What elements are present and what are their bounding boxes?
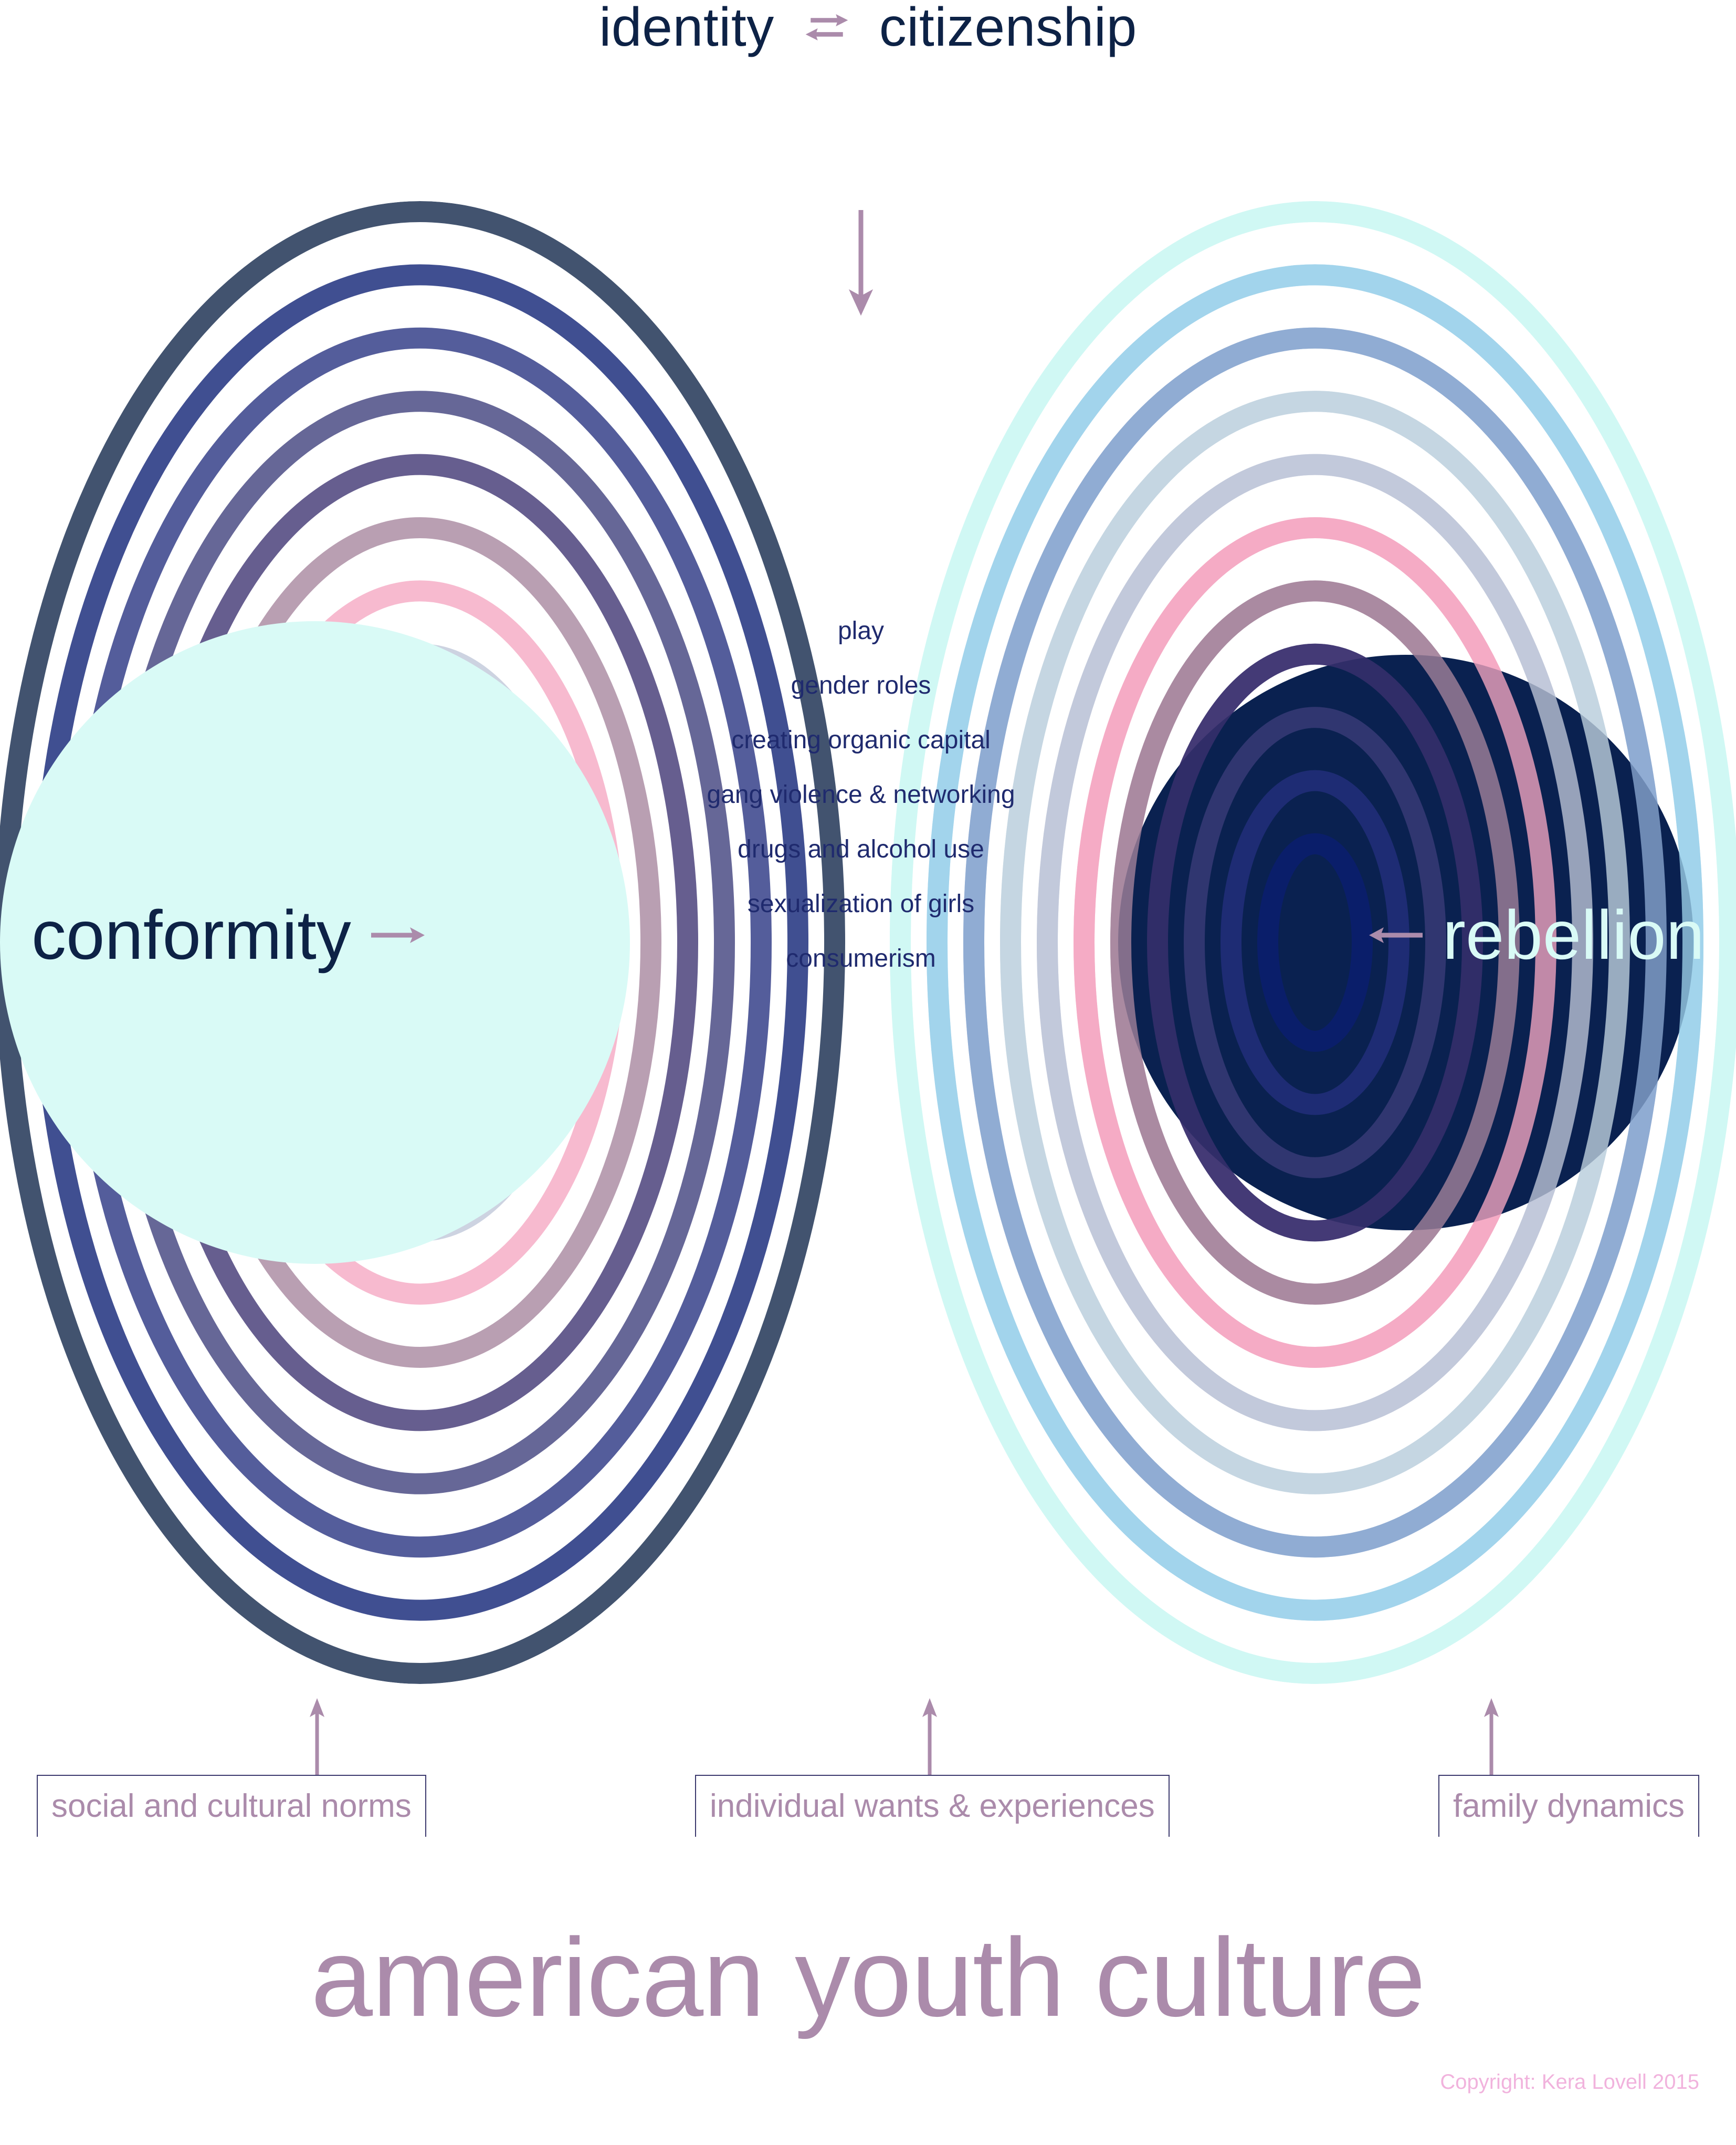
rebellion-pole: rebellion [1232, 901, 1705, 970]
identity-label: identity [599, 0, 774, 55]
citizenship-label: citizenship [879, 0, 1137, 55]
arrow-left-icon [1367, 920, 1425, 950]
list-item: creating organic capital [731, 713, 991, 768]
page-title: american youth culture [0, 1922, 1736, 2033]
list-item: sexualization of girls [748, 877, 974, 932]
arrow-up-icon [1478, 1697, 1505, 1776]
rebellion-label: rebellion [1443, 901, 1705, 970]
influence-box-family-dynamics: family dynamics [1438, 1775, 1699, 1837]
influence-label: social and cultural norms [51, 1790, 412, 1823]
diagram-canvas: identity citizenship conformity rebellio… [0, 0, 1736, 2145]
conformity-label: conformity [31, 901, 351, 970]
influence-label: individual wants & experiences [710, 1790, 1155, 1823]
influence-box-individual-wants: individual wants & experiences [695, 1775, 1170, 1837]
copyright-notice: Copyright: Kera Lovell 2015 [1440, 2071, 1699, 2092]
list-item: drugs and alcohol use [738, 822, 984, 877]
conformity-pole: conformity [31, 901, 504, 970]
list-item: gender roles [791, 658, 931, 713]
arrow-right-icon [369, 920, 427, 950]
arrow-up-icon [303, 1697, 331, 1776]
influence-box-social-norms: social and cultural norms [37, 1775, 426, 1837]
list-item: gang violence & networking [707, 768, 1015, 822]
bidirectional-exchange-icon [802, 2, 852, 53]
top-relationship-row: identity citizenship [0, 0, 1736, 55]
arrow-up-icon [916, 1697, 943, 1776]
list-item: consumerism [786, 932, 935, 986]
overlap-concept-list: play gender roles creating organic capit… [619, 604, 1102, 986]
arrow-down-icon [849, 210, 872, 315]
influence-label: family dynamics [1453, 1790, 1685, 1823]
influences-row: social and cultural norms individual wan… [37, 1775, 1699, 1837]
list-item: play [838, 604, 884, 658]
